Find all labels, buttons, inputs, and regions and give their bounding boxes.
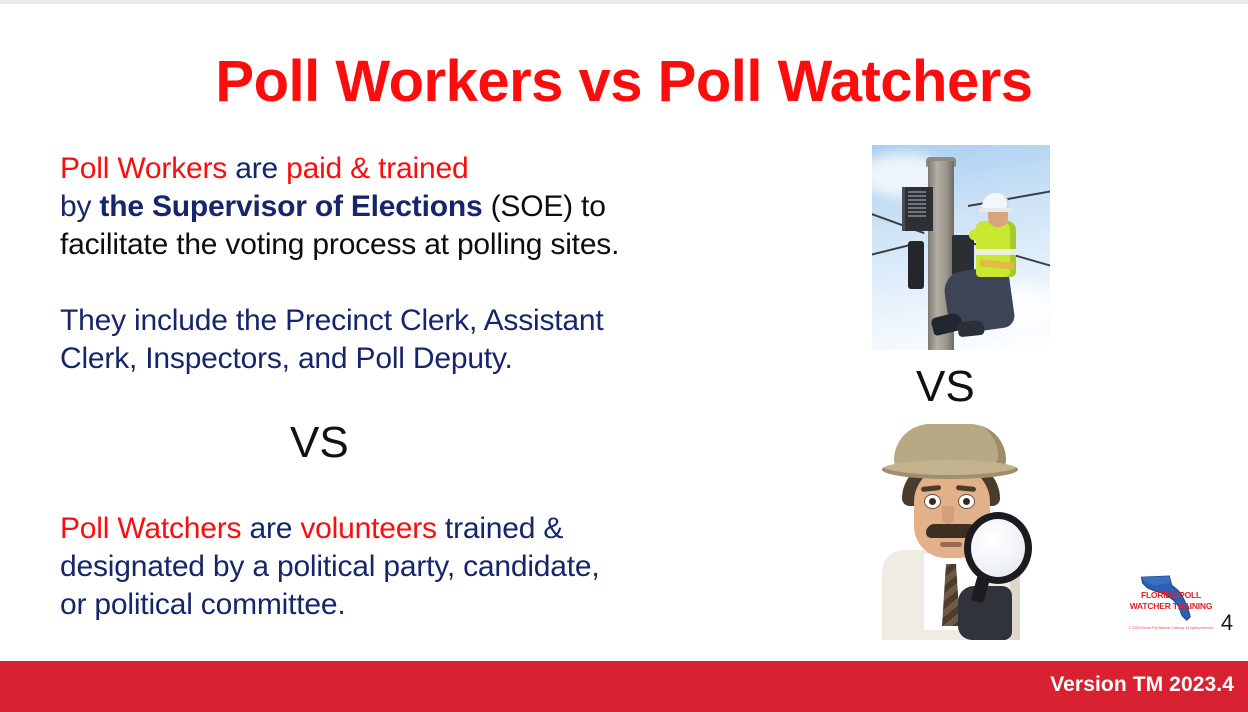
poll-watchers-line-3: or political committee. (60, 586, 770, 624)
poll-workers-by: by (60, 190, 99, 223)
poll-workers-line-1: Poll Workers are paid & trained (60, 150, 790, 188)
soe-abbreviation: (SOE) to (482, 190, 605, 223)
poll-workers-paragraph: Poll Workers are paid & trained by the S… (60, 150, 790, 263)
footer-bar: Version TM 2023.4 (0, 661, 1248, 712)
poll-workers-paid-trained: paid & trained (286, 152, 468, 185)
poll-workers-roles-paragraph: They include the Precinct Clerk, Assista… (60, 302, 760, 378)
poll-workers-line-3: facilitate the voting process at polling… (60, 226, 790, 264)
florida-poll-watcher-training-logo: FLORIDA POLL WATCHER TRAINING © 2023 Flo… (1128, 566, 1214, 638)
worker-boot (957, 320, 984, 338)
slide-canvas: Poll Workers vs Poll Watchers Poll Worke… (0, 0, 1248, 712)
page-number: 4 (1214, 610, 1240, 636)
detective-eye (924, 494, 941, 509)
detective-eye (958, 494, 975, 509)
vs-separator-right: VS (916, 362, 975, 412)
poll-watchers-designated: designated by a political party, candida… (60, 550, 600, 583)
page-title: Poll Workers vs Poll Watchers (0, 52, 1248, 113)
magnifying-glass-icon (964, 512, 1032, 584)
poll-watchers-term: Poll Watchers (60, 512, 241, 545)
poll-watchers-line-1: Poll Watchers are volunteers trained & (60, 510, 770, 548)
detective-hat-brim (882, 460, 1018, 479)
pole-equipment-box (908, 241, 924, 289)
roles-line-1: They include the Precinct Clerk, Assista… (60, 302, 760, 340)
roles-line-2: Clerk, Inspectors, and Poll Deputy. (60, 340, 760, 378)
poll-watchers-paragraph: Poll Watchers are volunteers trained & d… (60, 510, 770, 623)
poll-watchers-committee: or political committee. (60, 588, 346, 621)
logo-text-line-1: FLORIDA POLL (1124, 590, 1218, 601)
detective-nose (942, 506, 954, 524)
supervisor-of-elections: the Supervisor of Elections (99, 190, 482, 223)
logo-text: FLORIDA POLL WATCHER TRAINING (1124, 590, 1218, 611)
poll-watchers-are: are (241, 512, 300, 545)
poll-workers-duty: facilitate the voting process at polling… (60, 228, 619, 261)
poll-watchers-trained: trained & (437, 512, 563, 545)
logo-copyright-microtext: © 2023 Florida Poll Watcher Training. Al… (1128, 626, 1214, 630)
poll-workers-are: are (227, 152, 286, 185)
poll-workers-line-2: by the Supervisor of Elections (SOE) to (60, 188, 790, 226)
vest-reflective-stripe (976, 249, 1016, 255)
lineworker-photo (872, 145, 1050, 350)
poll-workers-term: Poll Workers (60, 152, 227, 185)
hard-hat-icon (982, 193, 1010, 210)
poll-watchers-volunteers: volunteers (300, 512, 436, 545)
top-edge-strip (0, 0, 1248, 4)
version-label: Version TM 2023.4 (1050, 673, 1234, 697)
pole-equipment-box (902, 187, 933, 231)
poll-watchers-line-2: designated by a political party, candida… (60, 548, 770, 586)
vs-separator-left: VS (290, 418, 349, 468)
detective-photo (866, 418, 1056, 640)
detective-mouth (940, 542, 962, 547)
logo-text-line-2: WATCHER TRAINING (1124, 601, 1218, 612)
